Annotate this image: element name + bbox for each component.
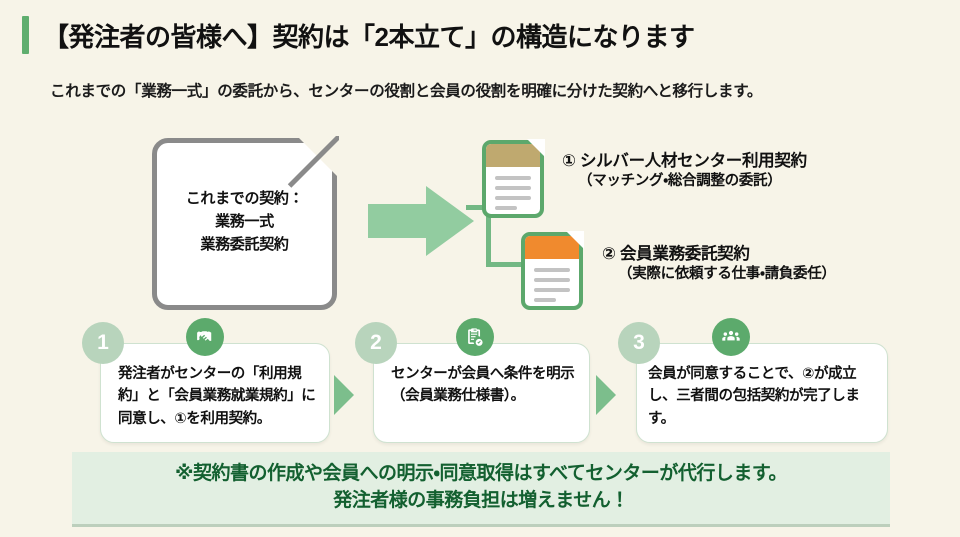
contract-title-1: ① シルバー人材センター利用契約 (562, 150, 807, 172)
document-line (495, 186, 531, 190)
step-number-badge-1: 1 (82, 322, 124, 364)
step-text-1: 発注者がセンターの「利用規約」と「会員業務就業規約」に同意し、①を利用契約。 (118, 363, 320, 430)
document-fold-corner-icon (527, 139, 545, 157)
people-group-icon (712, 318, 750, 356)
title-row: 【発注者の皆様へ】契約は「2本立て」の構造になります (22, 16, 940, 54)
step-arrow-1-2-icon (334, 375, 354, 415)
step-card-3: 3 会員が同意することで、②が成立し、三者間の包括契約が完了します。 (618, 333, 888, 443)
step-text-3: 会員が同意することで、②が成立し、三者間の包括契約が完了します。 (648, 363, 878, 430)
document-line (534, 288, 570, 292)
slide-root: 【発注者の皆様へ】契約は「2本立て」の構造になります これまでの「業務一式」の委… (0, 0, 960, 537)
contract-title-text-1: シルバー人材センター利用契約 (580, 152, 807, 170)
page-title: 【発注者の皆様へ】契約は「2本立て」の構造になります (43, 17, 694, 54)
contract-number-2: ② (602, 245, 616, 263)
document-line (534, 278, 570, 282)
contract-document-icon-1 (482, 140, 544, 218)
old-contract-line2: 業務一式 (152, 211, 337, 234)
document-fold-corner-icon (566, 231, 584, 249)
step-number-badge-3: 3 (618, 322, 660, 364)
step-card-2: 2 センターが会員へ条件を明示（会員業務仕様書）。 (355, 333, 590, 443)
step-arrow-2-3-icon (596, 375, 616, 415)
step-text-2: センターが会員へ条件を明示（会員業務仕様書）。 (391, 363, 580, 408)
banner-line-2: 発注者様の事務負担は増えません！ (333, 488, 628, 515)
old-contract-document: これまでの契約： 業務一式 業務委託契約 (152, 138, 337, 310)
title-accent-bar (22, 16, 29, 54)
document-line (495, 206, 517, 210)
old-contract-line3: 業務委託契約 (152, 234, 337, 257)
clipboard-check-icon (456, 318, 494, 356)
contract-title-text-2: 会員業務委託契約 (620, 245, 750, 263)
contract-document-icon-2 (521, 232, 583, 310)
document-line (495, 196, 531, 200)
document-line (534, 298, 556, 302)
contract-subtitle-1: （マッチング・総合調整の委託） (562, 172, 807, 192)
step-number-badge-2: 2 (355, 322, 397, 364)
page-subtitle: これまでの「業務一式」の委託から、センターの役割と会員の役割を明確に分けた契約へ… (50, 80, 930, 104)
contract-label-2: ② 会員業務委託契約 （実際に依頼する仕事・請負委任） (602, 243, 836, 285)
document-line (495, 176, 531, 180)
contract-subtitle-2: （実際に依頼する仕事・請負委任） (602, 265, 836, 285)
summary-banner: ※契約書の作成や会員への明示・同意取得はすべてセンターが代行します。 発注者様の… (72, 452, 890, 527)
handshake-icon (186, 318, 224, 356)
arrow-shaft (368, 204, 430, 238)
transition-arrow-icon (368, 186, 478, 256)
contract-number-1: ① (562, 152, 576, 170)
document-fold-edge-icon (287, 136, 339, 188)
document-line (534, 268, 570, 272)
contract-title-2: ② 会員業務委託契約 (602, 243, 836, 265)
document-text-lines (534, 268, 570, 308)
old-contract-text: これまでの契約： 業務一式 業務委託契約 (152, 188, 337, 256)
banner-line-1: ※契約書の作成や会員への明示・同意取得はすべてセンターが代行します。 (175, 461, 787, 488)
contract-label-1: ① シルバー人材センター利用契約 （マッチング・総合調整の委託） (562, 150, 807, 192)
old-contract-line1: これまでの契約： (152, 188, 337, 211)
document-text-lines (495, 176, 531, 216)
step-card-1: 1 発注者がセンターの「利用規約」と「会員業務就業規約」に同意し、①を利用契約。 (82, 333, 330, 443)
